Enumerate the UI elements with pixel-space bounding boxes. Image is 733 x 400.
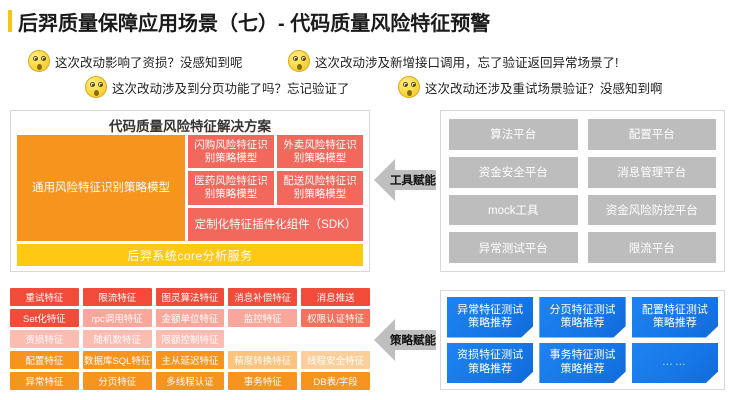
feature-tag[interactable]: 金额单位特征 [156, 309, 225, 327]
platform-cell[interactable]: mock工具 [449, 195, 578, 226]
strategy-enablement-arrow: 策略赋能 [374, 315, 436, 365]
platform-cell[interactable]: 消息管理平台 [588, 157, 717, 188]
strategy-card[interactable]: 分页特征测试策略推荐 [539, 297, 625, 338]
feature-tag[interactable]: DB表/字段 [301, 372, 370, 390]
platform-cell[interactable]: 资金安全平台 [449, 157, 578, 188]
feature-tag[interactable]: 数据库SQL特征 [83, 351, 152, 369]
strategy-grid: 异常特征测试策略推荐 分页特征测试策略推荐 配置特征测试策略推荐 资损特征测试策… [447, 297, 718, 383]
strategy-panel: 异常特征测试策略推荐 分页特征测试策略推荐 配置特征测试策略推荐 资损特征测试策… [440, 290, 725, 390]
sdk-component-block[interactable]: 定制化特征插件化组件（SDK） [188, 208, 363, 241]
feature-tag[interactable]: Set化特征 [10, 309, 79, 327]
page-title: 后羿质量保障应用场景（七）- 代码质量风险特征预警 [8, 6, 728, 36]
speech-bubble-3: 这次改动涉及到分页功能了吗？忘记验证了 [85, 76, 350, 98]
speech-bubble-4: 这次改动还涉及重试场景验证？没感知到啊 [398, 76, 663, 98]
feature-tag[interactable]: 异常特征 [10, 372, 79, 390]
domain-model-row: 医药风险特征识别策略模型 配送风险特征识别策略模型 [188, 171, 363, 204]
core-analysis-service-bar[interactable]: 后羿系统core分析服务 [17, 244, 363, 266]
title-text: 后羿质量保障应用场景（七）- 代码质量风险特征预警 [18, 7, 490, 36]
domain-model-cell[interactable]: 闪购风险特征识别策略模型 [188, 135, 274, 168]
strategy-card[interactable]: 事务特征测试策略推荐 [539, 343, 625, 384]
domain-model-cell[interactable]: 医药风险特征识别策略模型 [188, 171, 274, 204]
feature-tag[interactable]: 资损特征 [10, 330, 79, 348]
domain-model-cell[interactable]: 配送风险特征识别策略模型 [277, 171, 363, 204]
platform-cell[interactable]: 异常测试平台 [449, 232, 578, 263]
feature-tag[interactable]: 限流特征 [83, 288, 152, 306]
surprised-face-icon [398, 76, 420, 98]
feature-tag[interactable]: 主从延迟特征 [156, 351, 225, 369]
tool-enablement-arrow: 工具赋能 [374, 155, 436, 205]
feature-tag-grid: 重试特征限流特征图灵算法特征消息补偿特征消息推送Set化特征rpc调用特征金额单… [10, 288, 370, 390]
domain-model-row: 闪购风险特征识别策略模型 外卖风险特征识别策略模型 [188, 135, 363, 168]
speech-bubble-text: 这次改动涉及到分页功能了吗？忘记验证了 [112, 78, 350, 97]
feature-tag[interactable]: 消息推送 [301, 288, 370, 306]
platform-grid: 算法平台 配置平台 资金安全平台 消息管理平台 mock工具 资金风险防控平台 … [449, 119, 716, 263]
platform-cell[interactable]: 配置平台 [588, 119, 717, 150]
speech-bubble-text: 这次改动还涉及重试场景验证？没感知到啊 [425, 78, 663, 97]
feature-tag-placeholder [228, 330, 297, 348]
speech-bubble-2: 这次改动涉及新增接口调用，忘了验证返回异常场景了! [288, 50, 618, 72]
domain-model-cell[interactable]: 外卖风险特征识别策略模型 [277, 135, 363, 168]
platform-cell[interactable]: 算法平台 [449, 119, 578, 150]
feature-tag[interactable]: 多线程认证 [156, 372, 225, 390]
platform-panel: 算法平台 配置平台 资金安全平台 消息管理平台 mock工具 资金风险防控平台 … [440, 110, 725, 272]
solution-body: 通用风险特征识别策略模型 闪购风险特征识别策略模型 外卖风险特征识别策略模型 医… [17, 135, 363, 241]
feature-tag[interactable]: 分页特征 [83, 372, 152, 390]
feature-tag[interactable]: 权限认证特征 [301, 309, 370, 327]
solution-panel: 代码质量风险特征解决方案 通用风险特征识别策略模型 闪购风险特征识别策略模型 外… [10, 110, 370, 272]
surprised-face-icon [85, 76, 107, 98]
feature-tag[interactable]: 精度转换特征 [228, 351, 297, 369]
slide-canvas: 后羿质量保障应用场景（七）- 代码质量风险特征预警 这次改动影响了资损？没感知到… [0, 0, 733, 400]
feature-tag[interactable]: 线程安全特征 [301, 351, 370, 369]
feature-tag[interactable]: 随机数特征 [83, 330, 152, 348]
surprised-face-icon [288, 50, 310, 72]
strategy-card[interactable]: 配置特征测试策略推荐 [632, 297, 718, 338]
strategy-card-more[interactable]: …… [632, 343, 718, 384]
feature-tag-placeholder [301, 330, 370, 348]
strategy-card[interactable]: 异常特征测试策略推荐 [447, 297, 533, 338]
feature-tag[interactable]: 图灵算法特征 [156, 288, 225, 306]
feature-tag[interactable]: rpc调用特征 [83, 309, 152, 327]
title-accent-bar [8, 10, 12, 32]
speech-bubble-1: 这次改动影响了资损？没感知到呢 [28, 50, 243, 72]
general-risk-model-block[interactable]: 通用风险特征识别策略模型 [17, 135, 185, 241]
surprised-face-icon [28, 50, 50, 72]
platform-cell[interactable]: 限流平台 [588, 232, 717, 263]
strategy-enablement-label: 策略赋能 [382, 332, 444, 348]
strategy-card[interactable]: 资损特征测试策略推荐 [447, 343, 533, 384]
domain-model-stack: 闪购风险特征识别策略模型 外卖风险特征识别策略模型 医药风险特征识别策略模型 配… [188, 135, 363, 241]
feature-tag[interactable]: 事务特征 [228, 372, 297, 390]
feature-tag[interactable]: 重试特征 [10, 288, 79, 306]
platform-cell[interactable]: 资金风险防控平台 [588, 195, 717, 226]
feature-tag[interactable]: 限额控制特征 [156, 330, 225, 348]
speech-bubble-text: 这次改动影响了资损？没感知到呢 [55, 52, 243, 71]
feature-tag[interactable]: 配置特征 [10, 351, 79, 369]
feature-tag[interactable]: 监控特征 [228, 309, 297, 327]
tool-enablement-label: 工具赋能 [382, 172, 444, 188]
solution-title: 代码质量风险特征解决方案 [11, 115, 369, 135]
feature-tag[interactable]: 消息补偿特征 [228, 288, 297, 306]
speech-bubble-text: 这次改动涉及新增接口调用，忘了验证返回异常场景了! [315, 52, 618, 71]
